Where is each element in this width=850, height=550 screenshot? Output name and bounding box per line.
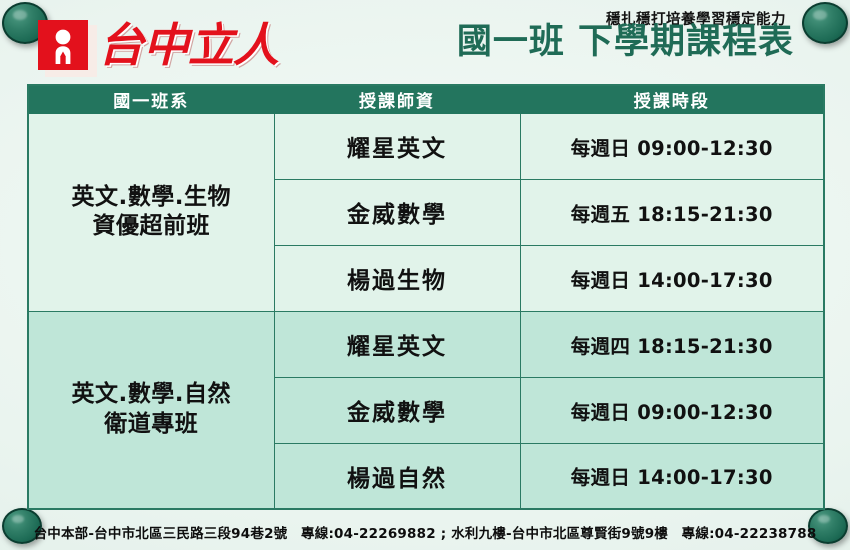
table-row: 英文.數學.生物 資優超前班 耀星英文 每週日 09:00-12:30 [28, 113, 824, 179]
time-cell: 每週日 09:00-12:30 [520, 377, 824, 443]
table-header-row: 國一班系 授課師資 授課時段 [28, 85, 824, 113]
person-in-red-square-logo-icon [38, 20, 92, 74]
teacher-cell: 耀星英文 [274, 113, 520, 179]
poster-canvas: 台中立人 穩扎穩打培養學習穩定能力 國一班 下學期課程表 國一班系 授課師資 授… [0, 0, 850, 550]
table-row: 英文.數學.自然 衛道專班 耀星英文 每週四 18:15-21:30 [28, 311, 824, 377]
program-line-2: 資優超前班 [93, 213, 211, 239]
page-title: 國一班 下學期課程表 [457, 24, 794, 61]
footer-contact-info: 台中本部-台中市北區三民路三段94巷2號 專線:04-22269882 ; 水利… [0, 522, 850, 542]
time-cell: 每週日 14:00-17:30 [520, 443, 824, 509]
program-name-cell-1: 英文.數學.生物 資優超前班 [28, 113, 274, 311]
program-line-1: 英文.數學.自然 [72, 381, 231, 407]
time-cell: 每週日 09:00-12:30 [520, 113, 824, 179]
brand-logo: 台中立人 [38, 20, 278, 74]
time-cell: 每週四 18:15-21:30 [520, 311, 824, 377]
time-cell: 每週五 18:15-21:30 [520, 179, 824, 245]
teacher-cell: 楊過生物 [274, 245, 520, 311]
program-line-2: 衛道專班 [104, 411, 198, 437]
teacher-cell: 金威數學 [274, 377, 520, 443]
column-header-time: 授課時段 [520, 85, 824, 113]
column-header-teacher: 授課師資 [274, 85, 520, 113]
teacher-cell: 金威數學 [274, 179, 520, 245]
program-line-1: 英文.數學.生物 [72, 184, 231, 210]
poster-header: 台中立人 穩扎穩打培養學習穩定能力 國一班 下學期課程表 [0, 0, 850, 84]
brand-wordmark: 台中立人 [98, 22, 278, 72]
program-name-cell-2: 英文.數學.自然 衛道專班 [28, 311, 274, 509]
course-schedule-table: 國一班系 授課師資 授課時段 英文.數學.生物 資優超前班 耀星英文 每週日 0… [27, 84, 825, 510]
column-header-program: 國一班系 [28, 85, 274, 113]
teacher-cell: 耀星英文 [274, 311, 520, 377]
teacher-cell: 楊過自然 [274, 443, 520, 509]
time-cell: 每週日 14:00-17:30 [520, 245, 824, 311]
